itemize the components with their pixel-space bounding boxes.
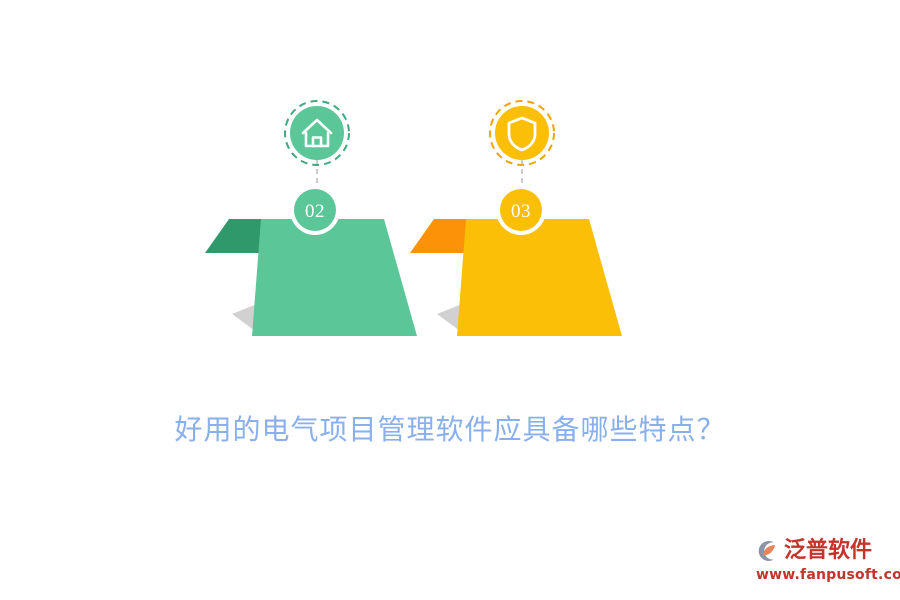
screenshot-canvas: 02 03 好用的电气项目管理软件应具备哪些特点？ 泛普软件 www.fanpu… <box>0 0 900 600</box>
step-02-badge-number: 02 <box>285 202 345 221</box>
watermark-url-text: www.fanpusoft.com <box>756 568 900 582</box>
infographic-svg <box>0 0 900 380</box>
step-03-banner[interactable] <box>457 219 622 336</box>
step-03-banner-fold <box>410 219 466 253</box>
infographic-group: 02 03 <box>0 0 900 380</box>
step-02-icon-disc[interactable] <box>290 106 344 160</box>
watermark-brand-row: 泛普软件 <box>754 538 872 564</box>
page-title: 好用的电气项目管理软件应具备哪些特点？ <box>0 412 900 448</box>
step-03-badge-number: 03 <box>491 202 551 221</box>
watermark: 泛普软件 www.fanpusoft.com <box>754 536 892 592</box>
watermark-brand-text: 泛普软件 <box>784 540 872 562</box>
step-03-icon-disc[interactable] <box>495 106 549 160</box>
step-02-banner[interactable] <box>252 219 417 336</box>
step-02-banner-fold <box>205 219 261 253</box>
fanpu-leaf-logo-icon <box>754 538 780 564</box>
